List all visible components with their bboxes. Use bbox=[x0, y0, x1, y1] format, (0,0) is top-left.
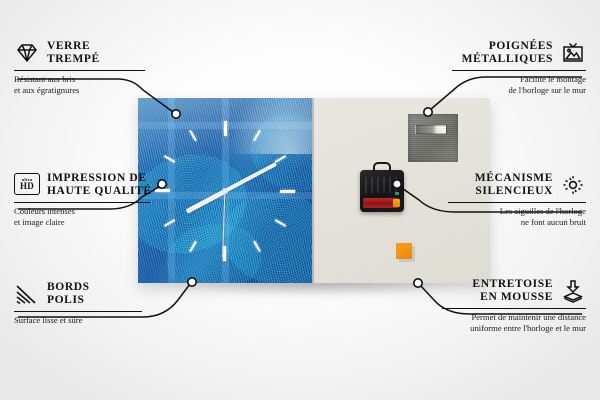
feature-title: POIGNÉESMÉTALLIQUES bbox=[462, 40, 553, 67]
battery bbox=[363, 198, 399, 208]
gear-icon bbox=[560, 173, 586, 197]
foam-spacer-icon bbox=[560, 279, 586, 303]
feature-title: BORDSPOLIS bbox=[47, 281, 90, 308]
feature-divider bbox=[14, 311, 142, 313]
feature-head: POIGNÉESMÉTALLIQUES bbox=[448, 40, 586, 67]
feature-divider bbox=[442, 308, 586, 310]
hour-tick bbox=[155, 190, 225, 192]
feature-divider bbox=[448, 202, 586, 204]
mechanism-texture bbox=[365, 177, 399, 193]
foam-spacer bbox=[396, 243, 412, 259]
feature-description: Facilite le montagede l'horloge sur le m… bbox=[448, 74, 586, 96]
feature-head: VERRETREMPÉ bbox=[14, 40, 149, 67]
feature-head: MÉCANISMESILENCIEUX bbox=[444, 172, 586, 199]
glass-highlight bbox=[228, 98, 312, 154]
feature-poignees-metalliques: POIGNÉESMÉTALLIQUES Facilite le montaged… bbox=[448, 40, 586, 97]
mechanism-hanger-loop bbox=[373, 162, 391, 172]
product-photo bbox=[138, 98, 490, 283]
feature-impression-haute-qualite: ultra HD IMPRESSION DEHAUTE QUALITÉ Coul… bbox=[14, 172, 154, 229]
polished-edge-icon bbox=[14, 282, 40, 306]
ultra-hd-icon-large-text: HD bbox=[20, 182, 34, 191]
feature-title: ENTRETOISEEN MOUSSE bbox=[472, 278, 553, 305]
feature-head: ENTRETOISEEN MOUSSE bbox=[438, 278, 586, 305]
feature-description: Les aiguilles de l'horlogene font aucun … bbox=[444, 206, 586, 228]
feature-mecanisme-silencieux: MÉCANISMESILENCIEUX Les aiguilles de l'h… bbox=[444, 172, 586, 229]
feature-head: ultra HD IMPRESSION DEHAUTE QUALITÉ bbox=[14, 172, 154, 199]
feature-divider bbox=[14, 202, 150, 204]
infographic-canvas: VERRETREMPÉ Résistant aux briset aux égr… bbox=[0, 0, 600, 400]
metal-handle bbox=[408, 114, 458, 162]
picture-hanger-icon bbox=[560, 41, 586, 65]
feature-entretoise-en-mousse: ENTRETOISEEN MOUSSE Permet de maintenir … bbox=[438, 278, 586, 335]
clock-face-front bbox=[138, 98, 312, 283]
feature-head: BORDSPOLIS bbox=[14, 281, 146, 308]
hand-hub bbox=[222, 188, 228, 194]
feature-description: Surface lisse et sûre bbox=[14, 315, 146, 326]
feature-description: Couleurs intenseset image claire bbox=[14, 206, 154, 228]
quartz-mechanism bbox=[360, 170, 404, 212]
feature-title: MÉCANISMESILENCIEUX bbox=[475, 172, 553, 199]
panel-edge bbox=[312, 98, 314, 283]
feature-title: VERRETREMPÉ bbox=[47, 40, 100, 67]
feature-description: Résistant aux briset aux égratignures bbox=[14, 74, 149, 96]
mechanism-label bbox=[395, 192, 399, 195]
hour-tick bbox=[225, 190, 295, 192]
feature-description: Permet de maintenir une distanceuniforme… bbox=[438, 312, 586, 334]
feature-title: IMPRESSION DEHAUTE QUALITÉ bbox=[47, 172, 152, 199]
diamond-icon bbox=[14, 41, 40, 65]
feature-bords-polis: BORDSPOLIS Surface lisse et sûre bbox=[14, 281, 146, 326]
hour-tick bbox=[224, 121, 226, 191]
ultra-hd-icon: ultra HD bbox=[14, 173, 40, 197]
feature-verre-trempe: VERRETREMPÉ Résistant aux briset aux égr… bbox=[14, 40, 149, 97]
feature-divider bbox=[14, 70, 145, 72]
feature-divider bbox=[452, 70, 586, 72]
